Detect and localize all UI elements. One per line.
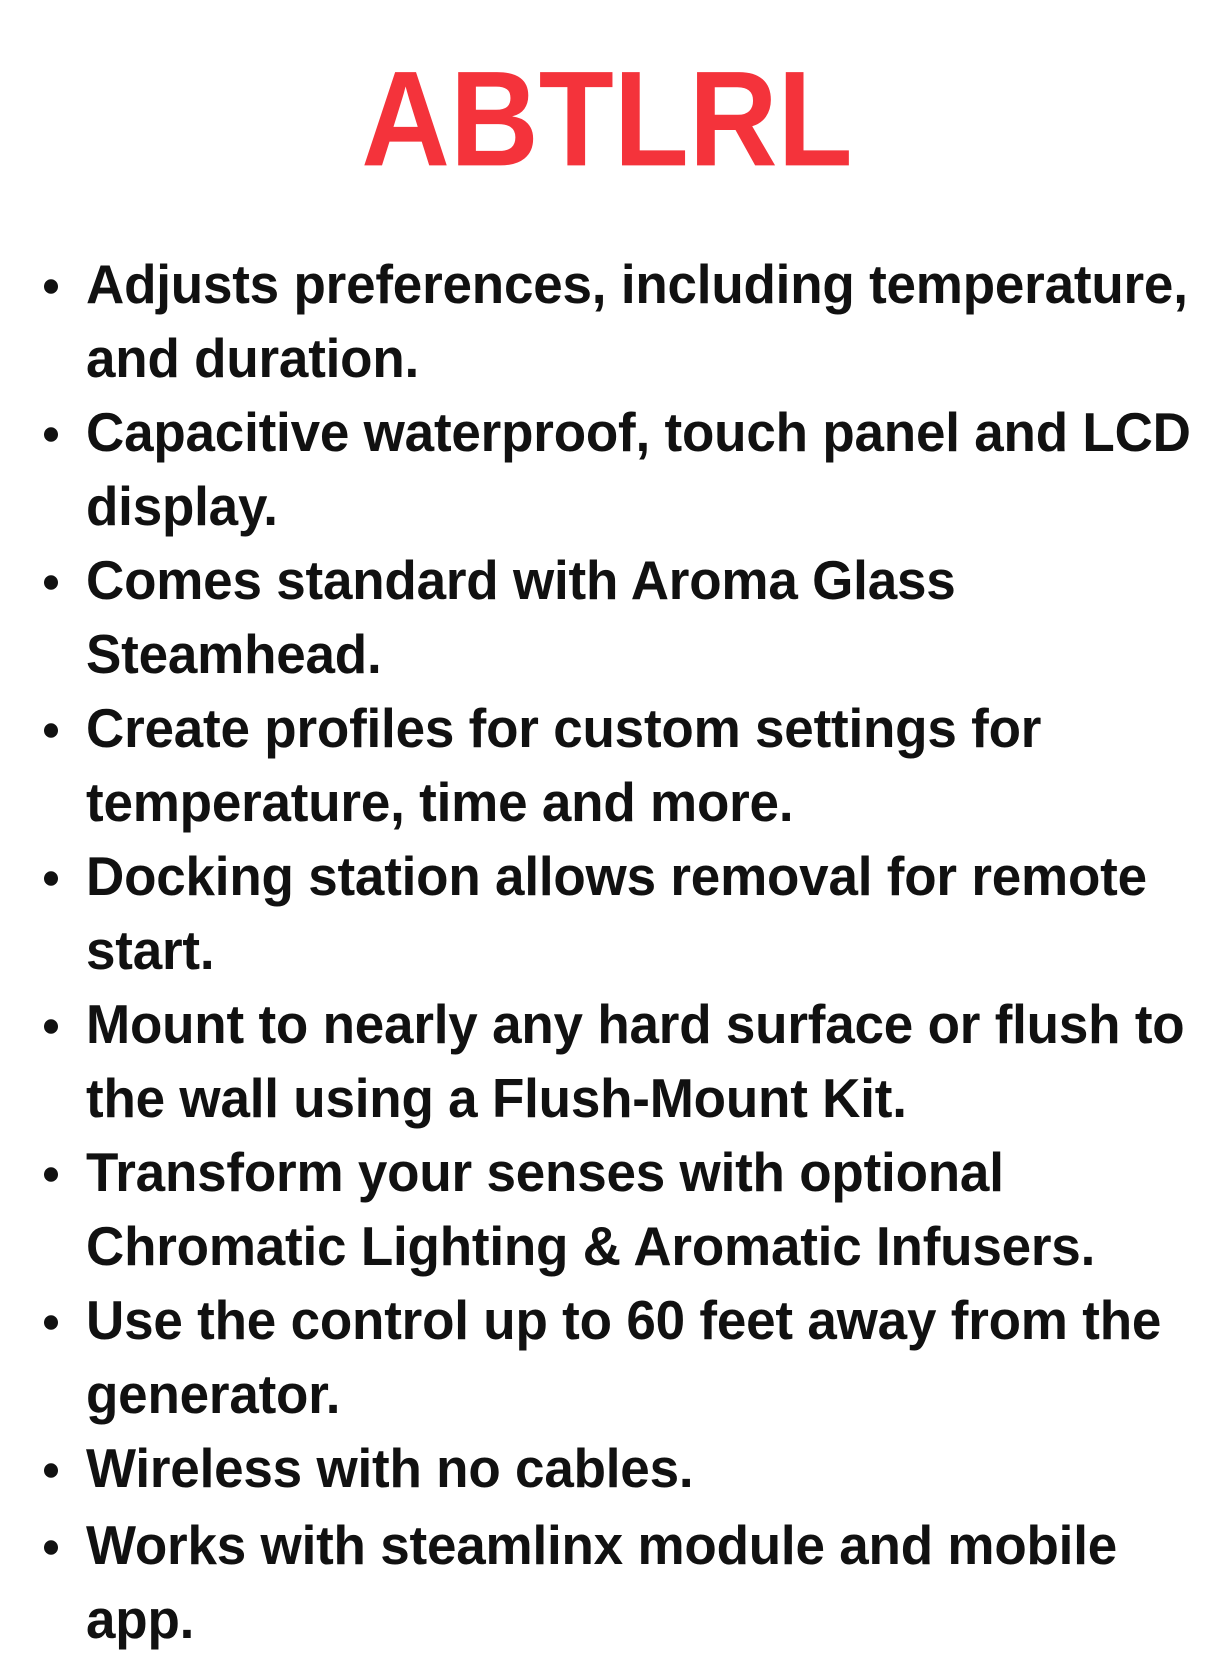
- list-item: Adjusts preferences, including temperatu…: [34, 248, 1196, 396]
- page-title: ABTLRL: [361, 52, 852, 188]
- list-item: Docking station allows removal for remot…: [34, 840, 1196, 988]
- list-item-label: Create profiles for custom settings for …: [86, 692, 1196, 840]
- list-item-label: Comes standard with Aroma Glass Steamhea…: [86, 544, 1196, 692]
- list-item: Works with steamlinx module and mobile a…: [34, 1509, 1196, 1657]
- product-feature-sheet: ABTLRL Adjusts preferences, including te…: [0, 0, 1214, 1214]
- list-item-label: Capacitive waterproof, touch panel and L…: [86, 396, 1196, 544]
- list-item-label: Mount to nearly any hard surface or flus…: [86, 988, 1196, 1136]
- bullet-icon: [44, 871, 58, 886]
- bullet-icon: [44, 1167, 58, 1182]
- list-item: Wireless with no cables.: [34, 1432, 1196, 1506]
- list-item-label: Adjusts preferences, including temperatu…: [86, 248, 1196, 396]
- list-item-label: Works with steamlinx module and mobile a…: [86, 1509, 1196, 1657]
- list-item-label: Use the control up to 60 feet away from …: [86, 1284, 1196, 1432]
- list-item: Mount to nearly any hard surface or flus…: [34, 988, 1196, 1136]
- feature-list: Adjusts preferences, including temperatu…: [34, 248, 1196, 1657]
- bullet-icon: [44, 279, 58, 294]
- list-item: Comes standard with Aroma Glass Steamhea…: [34, 544, 1196, 692]
- bullet-icon: [44, 427, 58, 442]
- bullet-icon: [44, 1315, 58, 1330]
- list-item: Transform your senses with optional Chro…: [34, 1136, 1196, 1284]
- list-item: Capacitive waterproof, touch panel and L…: [34, 396, 1196, 544]
- page-title-container: ABTLRL: [0, 52, 1214, 180]
- bullet-icon: [44, 1540, 58, 1555]
- list-item-label: Wireless with no cables.: [86, 1432, 1196, 1506]
- bullet-icon: [44, 1463, 58, 1478]
- bullet-icon: [44, 723, 58, 738]
- bullet-icon: [44, 575, 58, 590]
- list-item-label: Transform your senses with optional Chro…: [86, 1136, 1196, 1284]
- list-item: Create profiles for custom settings for …: [34, 692, 1196, 840]
- list-item: Use the control up to 60 feet away from …: [34, 1284, 1196, 1432]
- list-item-label: Docking station allows removal for remot…: [86, 840, 1196, 988]
- bullet-icon: [44, 1019, 58, 1034]
